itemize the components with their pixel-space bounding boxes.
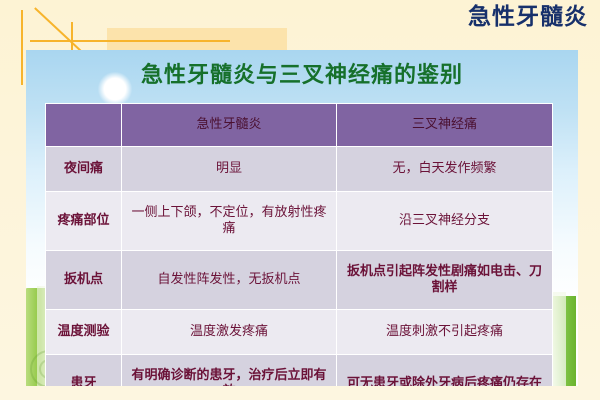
table-row: 夜间痛 明显 无，白天发作频繁	[46, 147, 553, 192]
row-label: 夜间痛	[46, 147, 122, 192]
cell-trigeminal-neuralgia: 扳机点引起阵发性剧痛如电击、刀割样	[337, 251, 553, 310]
cell-trigeminal-neuralgia: 沿三叉神经分支	[337, 192, 553, 251]
footer-strip	[0, 386, 600, 400]
table-header-row: 急性牙髓炎 三叉神经痛	[46, 104, 553, 147]
slide-canvas: 急性牙髓炎 急性牙髓炎与三叉神经痛的鉴别 急性牙髓炎 三叉神经痛 夜间痛 明显 …	[0, 0, 600, 400]
comparison-table: 急性牙髓炎 三叉神经痛 夜间痛 明显 无，白天发作频繁 疼痛部位 一侧上下颌，不…	[45, 103, 553, 400]
row-label: 扳机点	[46, 251, 122, 310]
cell-trigeminal-neuralgia: 温度刺激不引起疼痛	[337, 310, 553, 355]
cell-acute-pulpitis: 自发性阵发性，无扳机点	[122, 251, 337, 310]
row-label: 温度测验	[46, 310, 122, 355]
cell-acute-pulpitis: 温度激发疼痛	[122, 310, 337, 355]
cell-acute-pulpitis: 明显	[122, 147, 337, 192]
page-header-title: 急性牙髓炎	[468, 4, 588, 30]
column-header-acute-pulpitis: 急性牙髓炎	[122, 104, 337, 147]
table-row: 扳机点 自发性阵发性，无扳机点 扳机点引起阵发性剧痛如电击、刀割样	[46, 251, 553, 310]
column-header-trigeminal-neuralgia: 三叉神经痛	[337, 104, 553, 147]
row-label: 疼痛部位	[46, 192, 122, 251]
table-row: 疼痛部位 一侧上下颌，不定位，有放射性疼痛 沿三叉神经分支	[46, 192, 553, 251]
cell-acute-pulpitis: 一侧上下颌，不定位，有放射性疼痛	[122, 192, 337, 251]
page-title: 急性牙髓炎与三叉神经痛的鉴别	[26, 57, 578, 89]
decorative-horizontal-line	[30, 40, 230, 42]
table-row: 温度测验 温度激发疼痛 温度刺激不引起疼痛	[46, 310, 553, 355]
column-header-blank	[46, 104, 122, 147]
cell-trigeminal-neuralgia: 无，白天发作频繁	[337, 147, 553, 192]
decorative-vertical-line-left	[21, 10, 23, 85]
